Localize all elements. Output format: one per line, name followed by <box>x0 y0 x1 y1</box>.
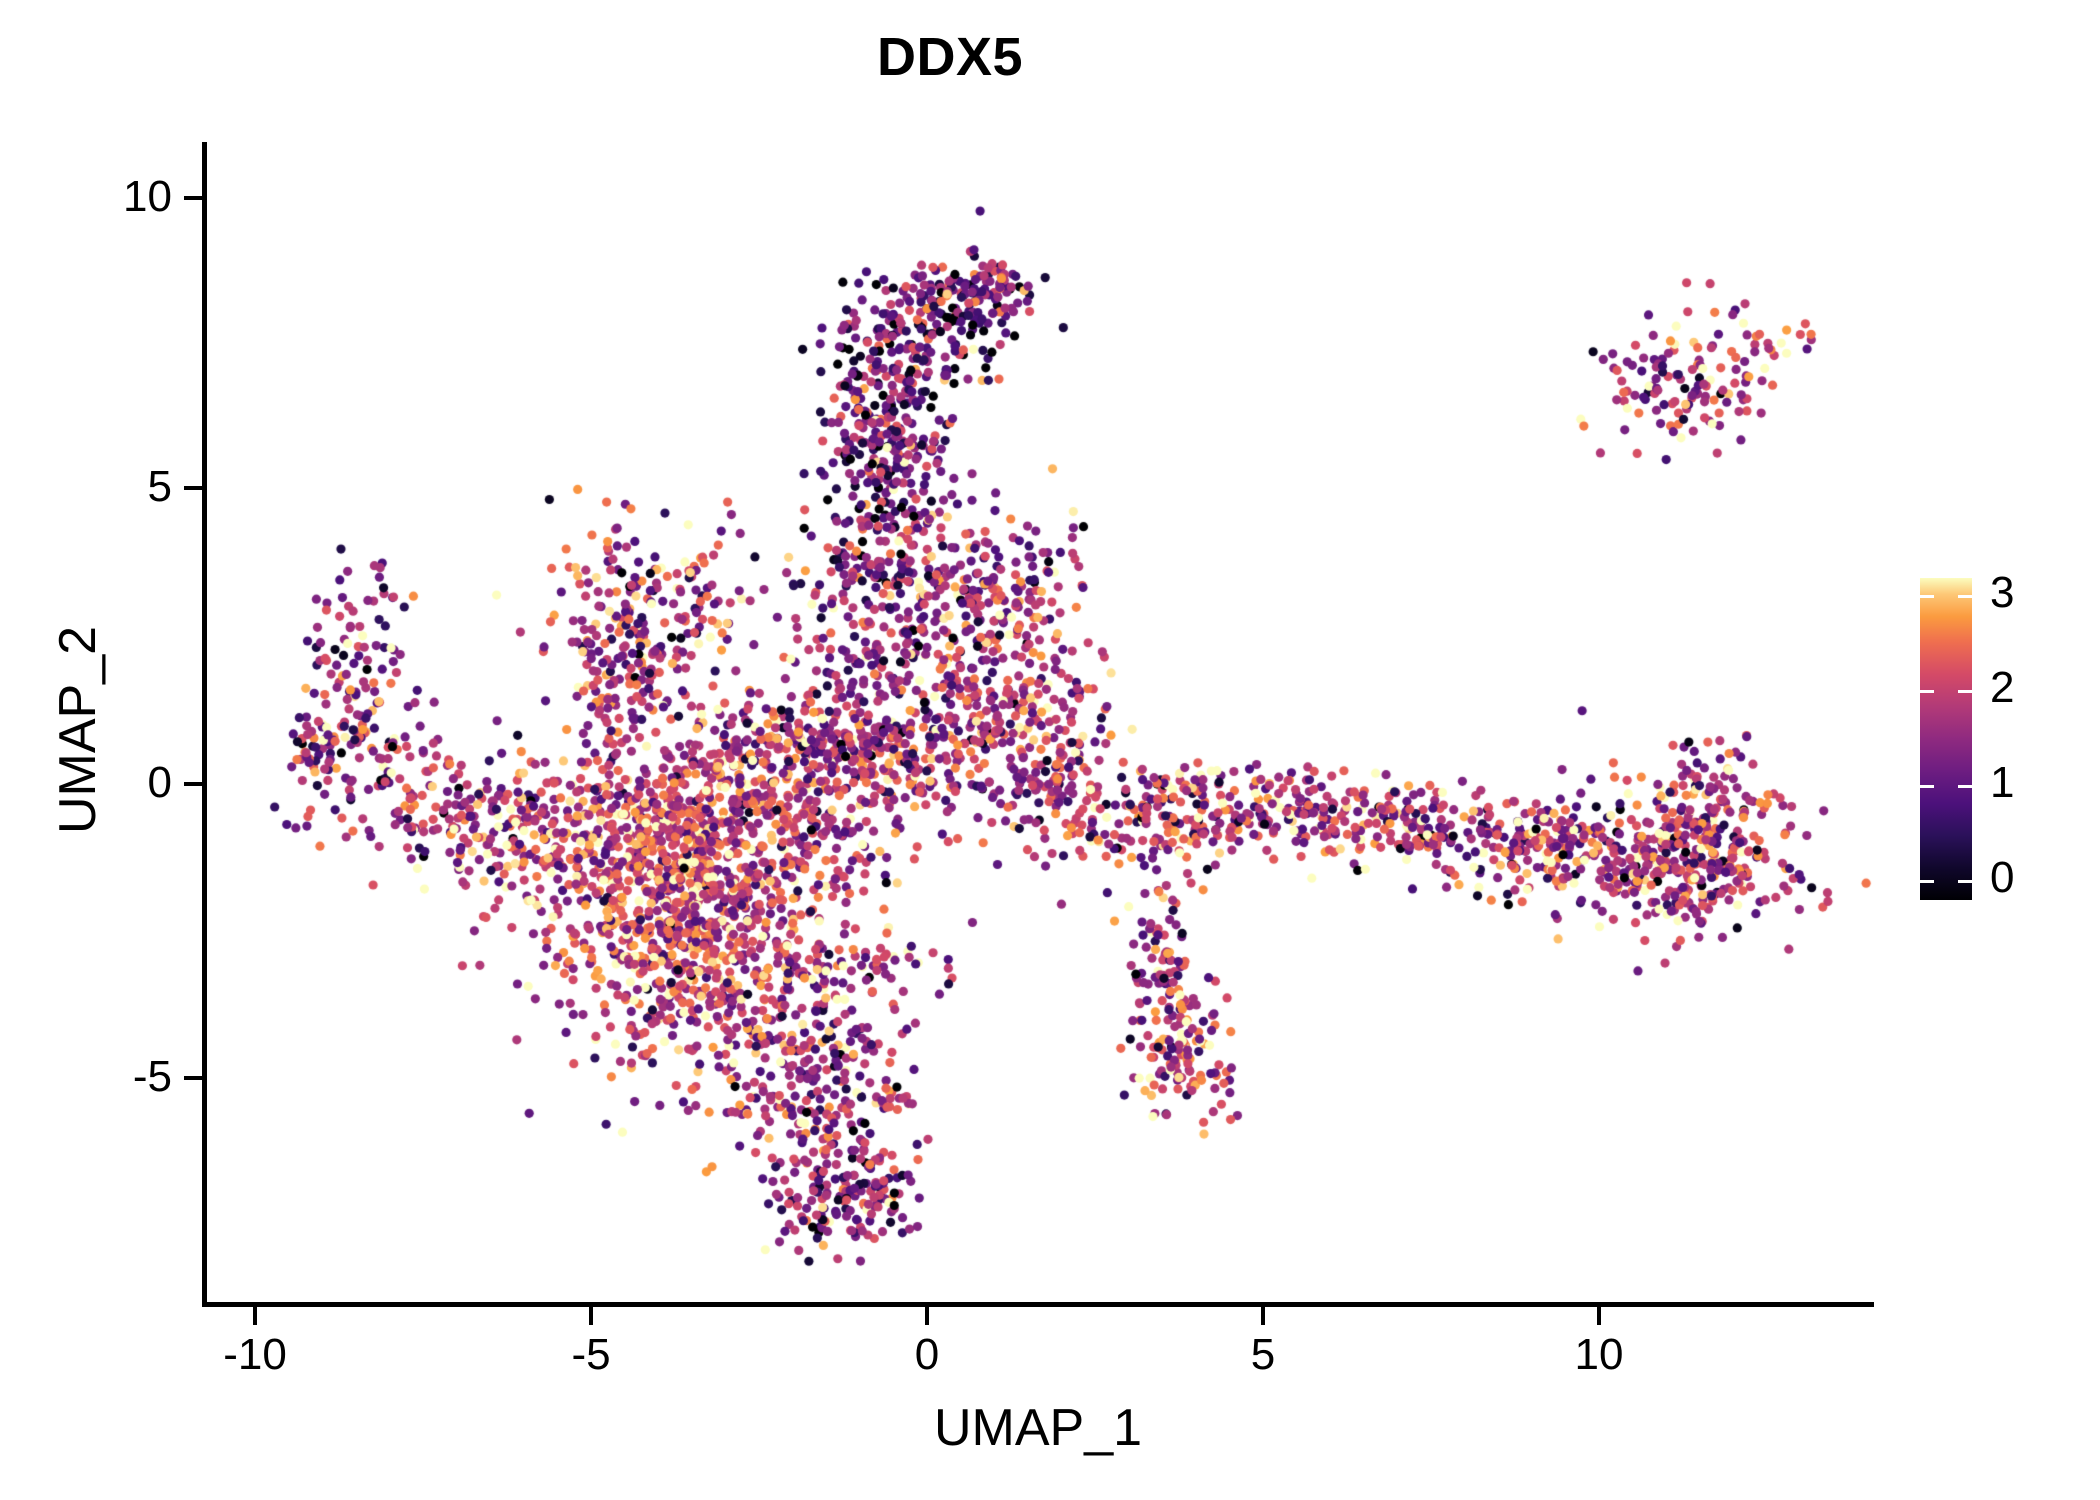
y-axis-title: UMAP_2 <box>48 330 108 1130</box>
x-axis-line <box>202 1302 1874 1307</box>
colorbar-label-2: 2 <box>1990 663 2014 713</box>
colorbar-legend: 3 2 1 0 <box>1920 578 2080 908</box>
y-tick-mark-10 <box>184 196 202 200</box>
y-tick-label-10: 10 <box>84 172 172 222</box>
scatter-points-layer <box>205 142 1873 1302</box>
y-axis-line <box>202 142 207 1306</box>
x-tick-mark-neg10 <box>253 1307 257 1325</box>
x-axis-title: UMAP_1 <box>202 1398 1874 1458</box>
x-tick-mark-5 <box>1261 1307 1265 1325</box>
x-tick-label-0: 0 <box>827 1330 1027 1380</box>
x-tick-mark-0 <box>925 1307 929 1325</box>
x-tick-label-5: 5 <box>1163 1330 1363 1380</box>
colorbar-gradient <box>1920 578 1972 900</box>
x-tick-mark-10 <box>1597 1307 1601 1325</box>
y-tick-mark-neg5 <box>184 1076 202 1080</box>
colorbar-label-3: 3 <box>1990 568 2014 618</box>
page-title: DDX5 <box>0 26 1900 88</box>
x-tick-label-neg5: -5 <box>491 1330 691 1380</box>
colorbar-label-1: 1 <box>1990 758 2014 808</box>
x-tick-mark-neg5 <box>589 1307 593 1325</box>
x-tick-label-neg10: -10 <box>155 1330 355 1380</box>
scatter-plot-figure: DDX5 10 5 0 -5 -10 -5 0 5 10 UMAP_1 UMAP… <box>0 0 2100 1500</box>
y-tick-mark-0 <box>184 782 202 786</box>
x-tick-label-10: 10 <box>1499 1330 1699 1380</box>
y-tick-mark-5 <box>184 486 202 490</box>
colorbar-label-0: 0 <box>1990 853 2014 903</box>
plot-panel <box>205 142 1873 1302</box>
